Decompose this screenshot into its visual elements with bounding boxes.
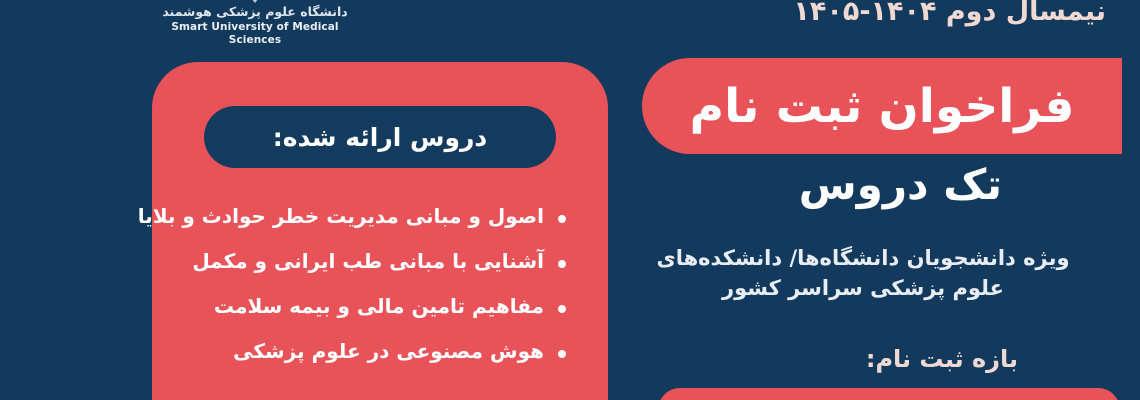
semester-label: نیمسال دوم ۱۴۰۴-۱۴۰۵ <box>793 0 1106 27</box>
offered-courses-list: اصول و مبانی مدیریت خطر حوادث و بلایا آش… <box>152 204 608 384</box>
list-item: مفاهیم تامین مالی و بیمه سلامت <box>172 294 570 318</box>
university-brand: دانشگاه علوم پزشکی هوشمند Smart Universi… <box>150 0 360 47</box>
list-item: اصول و مبانی مدیریت خطر حوادث و بلایا <box>172 204 570 228</box>
headline-banner: فراخوان ثبت نام <box>642 58 1122 154</box>
headline-text: فراخوان ثبت نام <box>690 79 1075 134</box>
university-name-en: Smart University of Medical Sciences <box>150 21 360 47</box>
poster-canvas: دانشگاه علوم پزشکی هوشمند Smart Universi… <box>0 0 1140 400</box>
subheadline-text: تک دروس <box>799 160 1002 209</box>
registration-period-pill <box>658 388 1120 400</box>
offered-courses-heading: دروس ارائه شده: <box>204 106 556 168</box>
university-name-fa: دانشگاه علوم پزشکی هوشمند <box>150 4 360 20</box>
registration-period-label: بازه ثبت نام: <box>866 345 1018 373</box>
audience-description: ویژه دانشجویان دانشگاه‌ها/ دانشکده‌های ع… <box>628 243 1098 304</box>
list-item: هوش مصنوعی در علوم پزشکی <box>172 339 570 363</box>
triangle-marker-icon <box>248 0 262 3</box>
list-item: آشنایی با مبانی طب ایرانی و مکمل <box>172 249 570 273</box>
offered-courses-panel: دروس ارائه شده: اصول و مبانی مدیریت خطر … <box>152 62 608 400</box>
offered-courses-heading-text: دروس ارائه شده: <box>273 123 488 152</box>
